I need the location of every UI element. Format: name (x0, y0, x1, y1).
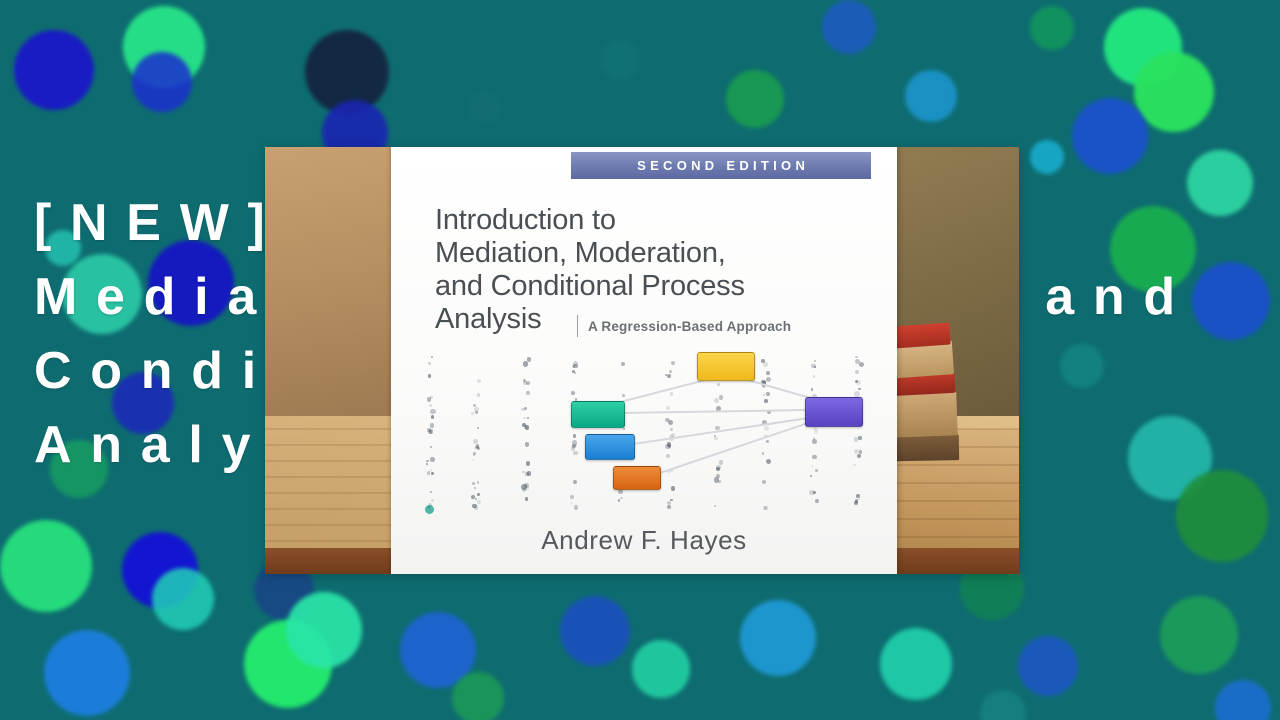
dot-point (813, 491, 816, 494)
dot-point (477, 500, 481, 504)
cover-author: Andrew F. Hayes (391, 525, 897, 556)
bokeh-circle (1030, 140, 1064, 174)
bokeh-circle (822, 0, 876, 54)
dot-point (477, 493, 480, 496)
book-cover: SECOND EDITION Introduction to Mediation… (391, 147, 897, 574)
dot-point (431, 499, 435, 503)
bokeh-circle (1018, 636, 1078, 696)
dot-point (430, 491, 432, 493)
bokeh-circle (152, 568, 214, 630)
bokeh-circle (452, 672, 504, 720)
dot-point (856, 494, 860, 498)
bokeh-circle (468, 90, 502, 124)
dot-point (764, 506, 768, 510)
dot-point (714, 505, 716, 507)
edition-banner: SECOND EDITION (571, 152, 871, 179)
dot-point (858, 498, 860, 500)
cover-subtitle-group: A Regression-Based Approach (577, 315, 791, 337)
bokeh-circle (632, 640, 690, 698)
dot-point (620, 497, 622, 499)
dot-point (472, 482, 475, 485)
bokeh-circle (1134, 52, 1214, 132)
edge-x-to-y (623, 410, 805, 413)
bokeh-circle (560, 596, 630, 666)
cover-title-line-3: and Conditional Process (435, 270, 875, 303)
cover-title-line-1: Introduction to (435, 204, 875, 237)
cover-subtitle: A Regression-Based Approach (588, 319, 791, 334)
bokeh-circle (600, 40, 640, 80)
screenshot-root: [NEW] Introduction to Mediation, Moderat… (0, 0, 1280, 720)
bokeh-circle (980, 690, 1026, 720)
bokeh-circle (1072, 98, 1148, 174)
bokeh-circle (1160, 596, 1238, 674)
bokeh-circle (880, 628, 952, 700)
dot-point (474, 487, 476, 489)
product-photo[interactable]: SECOND EDITION Introduction to Mediation… (265, 147, 1019, 574)
dot-point (815, 499, 819, 503)
bokeh-circle (905, 70, 957, 122)
cover-title-line-2: Mediation, Moderation, (435, 237, 875, 270)
diagram-node-m (697, 352, 755, 381)
bokeh-circle (1030, 6, 1074, 50)
bokeh-circle (132, 52, 192, 112)
bokeh-circle (44, 630, 130, 716)
dot-point (667, 505, 671, 509)
dot-point (525, 497, 529, 501)
diagram-node-xw (613, 466, 661, 490)
cover-path-diagram (391, 342, 897, 482)
bokeh-circle (14, 30, 94, 110)
dot-point (524, 485, 529, 490)
dot-point (574, 505, 579, 510)
diagram-node-w (585, 434, 635, 460)
bokeh-circle (740, 600, 816, 676)
dot-column-marker (425, 505, 434, 514)
diagram-node-x (571, 401, 625, 428)
bokeh-circle (726, 70, 784, 128)
dot-point (618, 499, 620, 501)
subtitle-divider (577, 315, 578, 337)
bokeh-circle (0, 520, 92, 612)
diagram-node-y (805, 397, 863, 427)
dot-point (570, 495, 574, 499)
dot-point (472, 504, 477, 509)
bokeh-circle (1176, 470, 1268, 562)
dot-point (570, 502, 573, 505)
bokeh-circle (1215, 680, 1271, 720)
bokeh-circle (286, 592, 362, 668)
dot-point (671, 486, 676, 491)
